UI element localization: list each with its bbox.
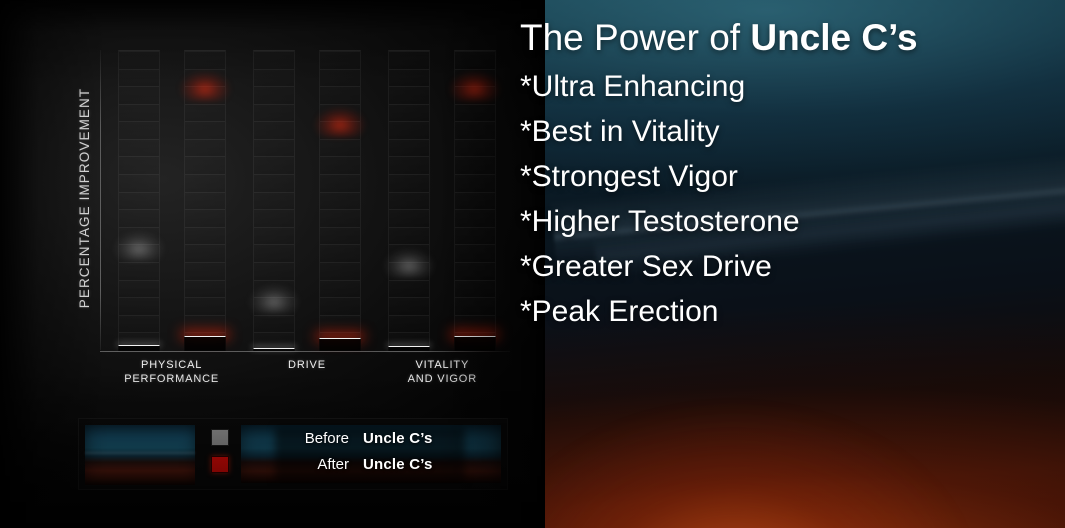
track-segment — [389, 104, 429, 122]
track-segment — [119, 209, 159, 227]
track-segment — [389, 209, 429, 227]
track-segment — [254, 174, 294, 192]
red-swatch-icon — [211, 456, 229, 473]
bar-fill — [388, 262, 430, 351]
category-label: VITALITYAND VIGOR — [376, 358, 508, 386]
category-label-line: AND VIGOR — [376, 372, 508, 386]
bar-group — [118, 50, 226, 351]
bar-group — [388, 50, 496, 351]
track-segment — [389, 121, 429, 139]
bar-before — [118, 50, 160, 351]
track-segment — [254, 121, 294, 139]
bar-fill — [184, 85, 226, 351]
benefit-bullet: *Peak Erection — [520, 289, 1065, 334]
track-segment — [254, 156, 294, 174]
track-segment — [119, 69, 159, 87]
legend-label-rows: BeforeUncle C’sAfterUncle C’s — [241, 425, 501, 483]
category-label-line: PERFORMANCE — [106, 372, 238, 386]
bar-before — [388, 50, 430, 351]
category-label-line: PHYSICAL — [106, 358, 238, 372]
y-axis-line — [100, 50, 101, 350]
legend-when-label: Before — [287, 430, 349, 447]
bar-segment — [319, 350, 361, 351]
track-segment — [185, 69, 225, 87]
track-segment — [320, 86, 360, 104]
track-segment — [389, 192, 429, 210]
chart-panel: PERCENTAGE IMPROVEMENT PHYSICALPERFORMAN… — [0, 0, 545, 528]
category-label-line: VITALITY — [376, 358, 508, 372]
track-segment — [185, 51, 225, 69]
benefit-bullet: *Ultra Enhancing — [520, 64, 1065, 109]
track-segment — [119, 174, 159, 192]
bar-fill — [253, 298, 295, 351]
y-axis-label: PERCENTAGE IMPROVEMENT — [74, 48, 96, 348]
category-label-line: DRIVE — [241, 358, 373, 372]
legend-row: AfterUncle C’s — [287, 456, 501, 482]
bar-segment — [118, 350, 160, 351]
track-segment — [254, 104, 294, 122]
marketing-copy: The Power of Uncle C’s *Ultra Enhancing*… — [520, 16, 1065, 334]
track-segment — [254, 280, 294, 298]
benefit-bullet: *Greater Sex Drive — [520, 244, 1065, 289]
track-segment — [254, 192, 294, 210]
bar-after — [184, 50, 226, 351]
title-prefix: The Power of — [520, 17, 750, 58]
track-segment — [455, 69, 495, 87]
legend-thumbnail-image — [85, 425, 195, 485]
bar-chart-plot-area — [104, 50, 510, 351]
bar-group — [253, 50, 361, 351]
legend-swatch-column — [211, 429, 231, 473]
track-segment — [119, 104, 159, 122]
track-segment — [254, 262, 294, 280]
bar-segment — [253, 350, 295, 351]
bar-fill — [319, 121, 361, 351]
track-segment — [119, 156, 159, 174]
track-segment — [254, 139, 294, 157]
track-segment — [320, 69, 360, 87]
category-label: DRIVE — [241, 358, 373, 386]
legend-brand-label: Uncle C’s — [363, 430, 433, 447]
track-segment — [254, 86, 294, 104]
benefit-bullet-list: *Ultra Enhancing*Best in Vitality*Strong… — [520, 64, 1065, 334]
x-axis-line — [100, 351, 510, 352]
benefit-bullet: *Strongest Vigor — [520, 154, 1065, 199]
bar-after — [319, 50, 361, 351]
track-segment — [389, 51, 429, 69]
x-axis-category-labels: PHYSICALPERFORMANCEDRIVEVITALITYAND VIGO… — [104, 358, 510, 386]
benefit-bullet: *Best in Vitality — [520, 109, 1065, 154]
track-segment — [389, 227, 429, 245]
track-segment — [389, 86, 429, 104]
track-segment — [254, 244, 294, 262]
bar-fill — [454, 85, 496, 351]
track-segment — [254, 209, 294, 227]
legend-brand-label: Uncle C’s — [363, 456, 433, 473]
slide-root: PERCENTAGE IMPROVEMENT PHYSICALPERFORMAN… — [0, 0, 1065, 528]
track-segment — [389, 156, 429, 174]
page-title: The Power of Uncle C’s — [520, 16, 1065, 60]
category-label: PHYSICALPERFORMANCE — [106, 358, 238, 386]
legend-when-label: After — [287, 456, 349, 473]
track-segment — [119, 227, 159, 245]
track-segment — [389, 139, 429, 157]
gray-swatch-icon — [211, 429, 229, 446]
track-segment — [389, 244, 429, 262]
bar-fill — [118, 245, 160, 351]
track-segment — [254, 69, 294, 87]
bar-before — [253, 50, 295, 351]
track-segment — [389, 174, 429, 192]
legend-row: BeforeUncle C’s — [287, 430, 501, 456]
track-segment — [455, 51, 495, 69]
track-segment — [254, 51, 294, 69]
track-segment — [254, 227, 294, 245]
track-segment — [320, 51, 360, 69]
track-segment — [119, 121, 159, 139]
chart-legend: BeforeUncle C’sAfterUncle C’s — [78, 418, 508, 490]
track-segment — [119, 139, 159, 157]
track-segment — [389, 69, 429, 87]
track-segment — [320, 104, 360, 122]
bar-after — [454, 50, 496, 351]
title-brand: Uncle C’s — [750, 17, 917, 58]
benefit-bullet: *Higher Testosterone — [520, 199, 1065, 244]
track-segment — [119, 86, 159, 104]
track-segment — [119, 51, 159, 69]
bar-segment — [184, 350, 226, 351]
bar-segment — [454, 350, 496, 351]
bar-segment — [388, 350, 430, 351]
track-segment — [119, 192, 159, 210]
